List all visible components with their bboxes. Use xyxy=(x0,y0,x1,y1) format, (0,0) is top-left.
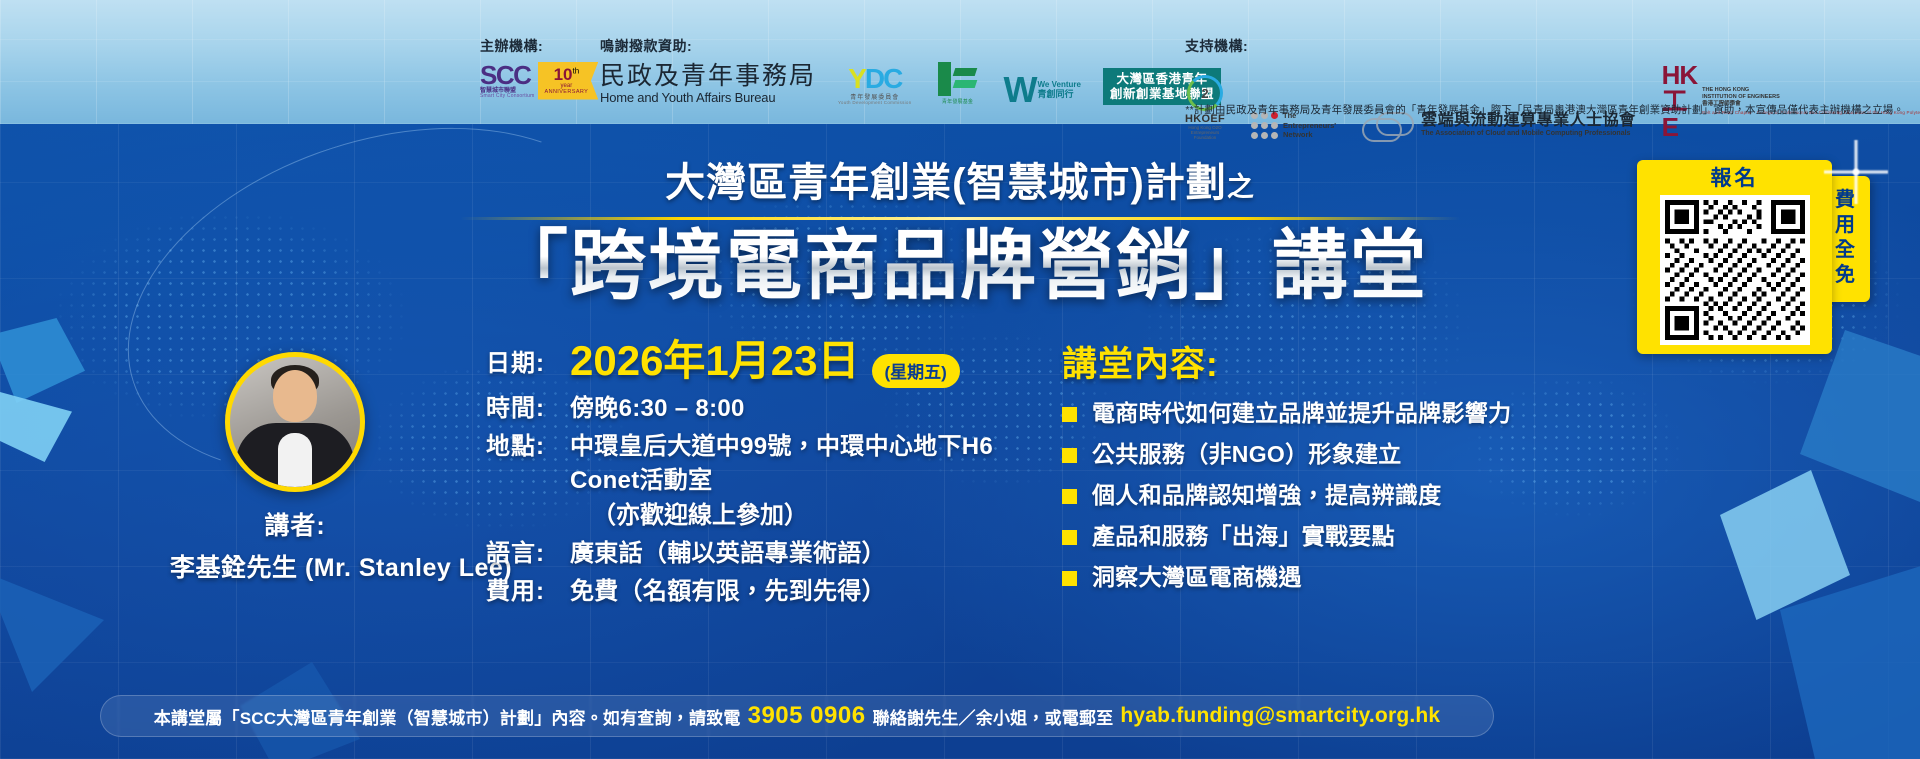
speaker-photo xyxy=(225,352,365,492)
content-item-text: 公共服務（非NGO）形象建立 xyxy=(1092,435,1402,469)
hkie-logo: HK工E THE HONG KONG INSTITUTION OF ENGINE… xyxy=(1662,62,1920,140)
qr-heading: 報名 xyxy=(1646,168,1823,189)
seminar-content-heading: 講堂內容: xyxy=(1062,336,1622,387)
organiser-group: 主辦機構: SCC 智慧城市聯盟 Smart City Consortium 1… xyxy=(480,36,598,100)
detail-value-language: 廣東話（輔以英語專業術語） xyxy=(570,537,886,572)
contact-text-before: 本講堂屬「SCC大灣區青年創業（智慧城市）計劃」內容。如有查詢，請致電 xyxy=(154,704,741,729)
funder-logos-row: 民政及青年事務局 Home and Youth Affairs Bureau Y… xyxy=(600,62,1221,105)
ydf-glyph-icon xyxy=(934,62,982,96)
detail-label-language: 語言: xyxy=(486,537,570,572)
programme-title-main: 大灣區青年創業(智慧城市)計劃 xyxy=(665,161,1227,205)
title-divider xyxy=(460,217,1460,220)
seminar-content-list: 電商時代如何建立品牌並提升品牌影響力 公共服務（非NGO）形象建立 個人和品牌認… xyxy=(1062,394,1622,592)
contact-email[interactable]: hyab.funding@smartcity.org.hk xyxy=(1120,704,1440,728)
contact-text-middle: 聯絡謝先生／余小姐，或電郵至 xyxy=(873,704,1114,729)
detail-value-time: 傍晚6:30 – 8:00 xyxy=(570,392,745,427)
organiser-logos-row: SCC 智慧城市聯盟 Smart City Consortium 10th ye… xyxy=(480,62,598,100)
qr-card[interactable]: 報名 xyxy=(1637,160,1832,354)
ten-line3: Network xyxy=(1283,130,1336,140)
scc-logo-word: SCC xyxy=(480,62,535,88)
scc-10th-anniversary-badge: 10th year ANNIVERSARY xyxy=(538,62,599,100)
ydc-logo-en: Youth Development Commission xyxy=(838,101,912,106)
registration-qr-code[interactable] xyxy=(1660,195,1810,345)
ydc-wordmark: YDC xyxy=(838,65,912,93)
programme-title-suffix: 之 xyxy=(1227,172,1255,202)
detail-value-venue: 中環皇后大道中99號，中環中心地下H6 Conet活動室 xyxy=(570,430,1066,500)
detail-value-venue-note: （亦歡迎線上參加） xyxy=(570,499,1066,534)
scc-wordmark: SCC 智慧城市聯盟 Smart City Consortium xyxy=(480,62,535,99)
list-item: 洞察大灣區電商機遇 xyxy=(1062,558,1622,592)
speaker-name: 李基銓先生 (Mr. Stanley Lee) xyxy=(170,548,420,584)
we-venture-logo: W We Venture 青創同行 xyxy=(1004,76,1081,105)
detail-value-fee: 免費（名額有限，先到先得） xyxy=(570,575,886,610)
content-item-text: 個人和品牌認知增強，提高辨識度 xyxy=(1092,476,1442,510)
anniversary-word: ANNIVERSARY xyxy=(545,90,589,96)
list-item: 公共服務（非NGO）形象建立 xyxy=(1062,435,1622,469)
supporter-logos-row: 2 HKOEF Hong Kong O2O Entrepreneurs Foun… xyxy=(1185,62,1920,140)
hkie-mark: HK工E xyxy=(1662,62,1698,140)
square-bullet-icon xyxy=(1062,530,1077,545)
supporters-group: 支持機構: 2 HKOEF Hong Kong O2O Entrepreneur… xyxy=(1185,36,1920,140)
funding-disclaimer: **計劃由民政及青年事務局及青年發展委員會的「青年發展基金」脗下「民青局粵港澳大… xyxy=(1185,102,1904,117)
funding-label: 鳴謝撥款資助: xyxy=(600,36,1221,56)
polygon-decoration-right-3 xyxy=(1780,560,1920,759)
detail-label-time: 時間: xyxy=(486,392,570,427)
detail-row-venue: 地點: 中環皇后大道中99號，中環中心地下H6 Conet活動室 （亦歡迎線上參… xyxy=(486,430,1066,534)
square-bullet-icon xyxy=(1062,571,1077,586)
hkie-line1: THE HONG KONG xyxy=(1702,87,1920,94)
detail-row-time: 時間: 傍晚6:30 – 8:00 xyxy=(486,392,1066,427)
detail-value-date: 2026年1月23日 xyxy=(570,337,860,384)
weekday-badge: (星期五) xyxy=(872,354,960,388)
hyab-logo: 民政及青年事務局 Home and Youth Affairs Bureau xyxy=(600,63,816,105)
content-item-text: 產品和服務「出海」實戰要點 xyxy=(1092,517,1395,551)
detail-label-fee: 費用: xyxy=(486,575,570,610)
registration-qr-block[interactable]: 費用全免 報名 xyxy=(1637,160,1832,354)
we-venture-mark: W xyxy=(1004,76,1034,105)
youth-development-fund-logo: 青年發展基金 xyxy=(934,62,982,105)
event-details-list: 日期: 2026年1月23日(星期五) 時間: 傍晚6:30 – 8:00 地點… xyxy=(486,340,1066,613)
square-bullet-icon xyxy=(1062,407,1077,422)
list-item: 產品和服務「出海」實戰要點 xyxy=(1062,517,1622,551)
organiser-label: 主辦機構: xyxy=(480,36,598,56)
event-promo-banner: 主辦機構: SCC 智慧城市聯盟 Smart City Consortium 1… xyxy=(0,0,1920,759)
polygon-decoration-right-2 xyxy=(1720,470,1850,620)
hyab-logo-cn: 民政及青年事務局 xyxy=(600,63,816,89)
contact-bar: 本講堂屬「SCC大灣區青年創業（智慧城市）計劃」內容。如有查詢，請致電 3905… xyxy=(100,695,1494,737)
detail-label-date: 日期: xyxy=(486,352,570,376)
detail-label-venue: 地點: xyxy=(486,430,570,465)
content-item-text: 洞察大灣區電商機遇 xyxy=(1092,558,1302,592)
square-bullet-icon xyxy=(1062,448,1077,463)
polygon-decoration-left-3 xyxy=(0,572,104,692)
detail-row-fee: 費用: 免費（名額有限，先到先得） xyxy=(486,575,1066,610)
list-item: 電商時代如何建立品牌並提升品牌影響力 xyxy=(1062,394,1622,428)
scc-logo: SCC 智慧城市聯盟 Smart City Consortium 10th ye… xyxy=(480,62,598,100)
we-venture-cn: 青創同行 xyxy=(1038,90,1081,100)
event-title: 「跨境電商品牌營銷」講堂 xyxy=(0,224,1920,309)
scc-logo-sub-en: Smart City Consortium xyxy=(480,94,535,99)
ydc-logo: YDC 青年發展委員會 Youth Development Commission xyxy=(838,65,912,106)
square-bullet-icon xyxy=(1062,489,1077,504)
funding-group: 鳴謝撥款資助: 民政及青年事務局 Home and Youth Affairs … xyxy=(600,36,1221,105)
content-item-text: 電商時代如何建立品牌並提升品牌影響力 xyxy=(1092,394,1511,428)
polygon-decoration-left-1 xyxy=(0,318,85,403)
hkoef-sub: Hong Kong O2O Entrepreneurs Foundation xyxy=(1185,125,1225,140)
anniversary-number: 10 xyxy=(554,65,573,84)
hkie-line2: INSTITUTION OF ENGINEERS xyxy=(1702,94,1920,101)
polygon-decoration-left-2 xyxy=(0,392,72,462)
speaker-label: 講者: xyxy=(170,506,420,542)
detail-row-language: 語言: 廣東話（輔以英語專業術語） xyxy=(486,537,1066,572)
polygon-decoration-right-1 xyxy=(1800,330,1920,530)
anniversary-ordinal: th xyxy=(572,67,579,76)
contact-phone[interactable]: 3905 0906 xyxy=(748,702,866,730)
ydf-caption: 青年發展基金 xyxy=(934,98,982,105)
hyab-logo-en: Home and Youth Affairs Bureau xyxy=(600,91,816,105)
partners-logo-strip: 主辦機構: SCC 智慧城市聯盟 Smart City Consortium 1… xyxy=(0,0,1920,124)
detail-row-date: 日期: 2026年1月23日(星期五) xyxy=(486,340,1066,388)
seminar-content-block: 講堂內容: 電商時代如何建立品牌並提升品牌影響力 公共服務（非NGO）形象建立 … xyxy=(1062,336,1622,599)
acmcp-en: The Association of Cloud and Mobile Comp… xyxy=(1421,130,1636,138)
list-item: 個人和品牌認知增強，提高辨識度 xyxy=(1062,476,1622,510)
supporters-label: 支持機構: xyxy=(1185,36,1920,56)
ten-line2: Entrepreneurs' xyxy=(1283,121,1336,131)
programme-title: 大灣區青年創業(智慧城市)計劃之 xyxy=(0,150,1920,208)
title-block: 大灣區青年創業(智慧城市)計劃之 「跨境電商品牌營銷」講堂 xyxy=(0,150,1920,309)
speaker-block: 講者: 李基銓先生 (Mr. Stanley Lee) xyxy=(170,352,420,584)
